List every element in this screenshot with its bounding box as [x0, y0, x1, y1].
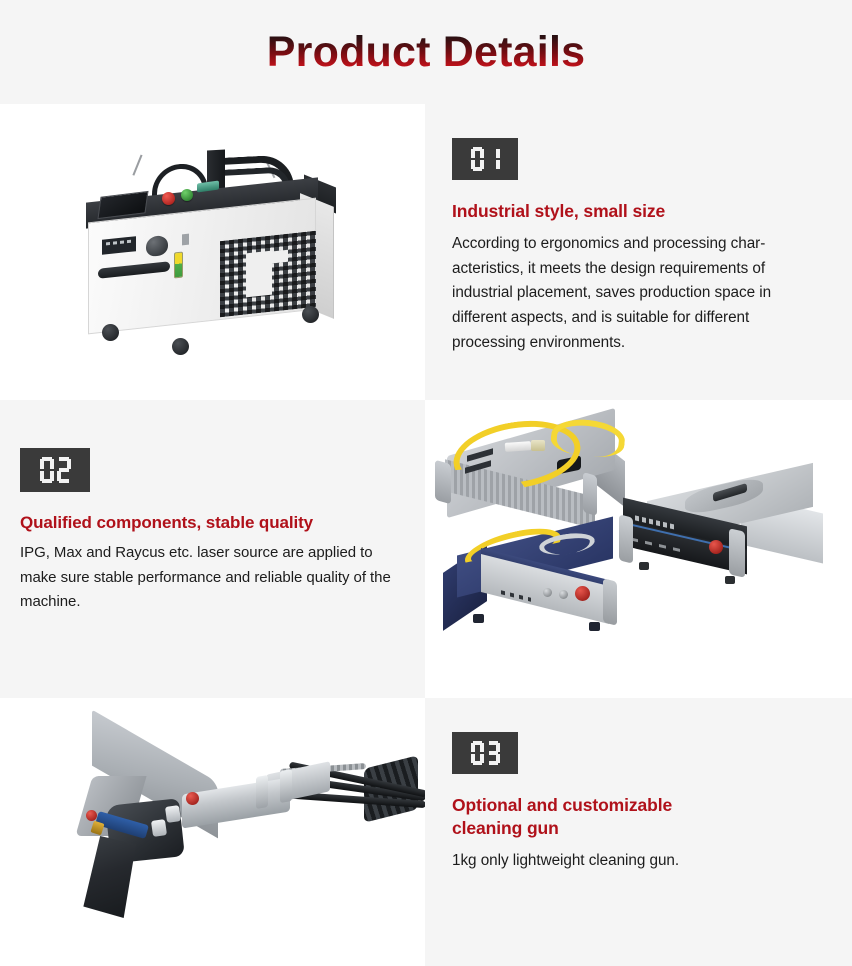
- laser-source-unit-raycus: Raycus: [439, 536, 629, 640]
- gun-trigger-button: [186, 792, 199, 805]
- gauge-led-3: [120, 240, 124, 243]
- lcd-digit-zero: [471, 741, 484, 765]
- feature-image-panel-3: [0, 698, 425, 966]
- gauge-led-2: [113, 241, 117, 244]
- unit3-port-1: [543, 588, 552, 597]
- gun-indicator-button: [86, 810, 97, 821]
- seg-bottom-right: [50, 471, 54, 481]
- seg-bottom-left: [471, 754, 475, 763]
- lcd-digit-one: [487, 147, 500, 171]
- body-line: acteristics, it meets the design require…: [452, 260, 765, 277]
- machine-emergency-stop-button: [162, 192, 175, 205]
- feature-text-block-1: Industrial style, small size According t…: [425, 104, 852, 356]
- lcd-digit-two: [57, 457, 71, 483]
- lcd-digit-zero: [40, 457, 54, 483]
- feature-badge-01: [452, 138, 518, 180]
- feature-text-block-3: Optional and customizable cleaning gun 1…: [425, 698, 852, 873]
- seg-top-left: [471, 743, 475, 752]
- unit3-foot-left: [473, 614, 484, 623]
- lcd-digit-zero: [471, 147, 484, 171]
- unit1-fiber-connector-brass: [531, 440, 545, 451]
- gun-collar-2: [280, 769, 292, 803]
- unit2-red-power-button: [709, 540, 723, 554]
- body-line: processing environments.: [452, 334, 625, 351]
- seg-bottom-right: [480, 754, 484, 763]
- gun-collar-1: [256, 775, 268, 809]
- lcd-digit-three: [487, 741, 500, 765]
- seg-top-right: [67, 459, 71, 469]
- unit2-foot-right: [725, 576, 735, 584]
- heading-line: cleaning gun: [452, 818, 559, 838]
- unit1-fiber-connector-white: [505, 441, 532, 452]
- machine-caster-front-left: [102, 324, 119, 341]
- gauge-led-1: [106, 242, 110, 245]
- feature-text-block-2: Qualified components, stable quality IPG…: [0, 400, 425, 614]
- body-line: According to ergonomics and processing c…: [452, 235, 765, 252]
- seg-top-right: [480, 743, 484, 752]
- feature-image-panel-2: Raycus: [425, 400, 852, 698]
- feature-image-panel-1: [0, 104, 425, 400]
- seg-bottom-right: [480, 160, 484, 169]
- machine-illustration: [64, 148, 364, 353]
- heading-line: Optional and customizable: [452, 795, 672, 815]
- feature-text-panel-3: Optional and customizable cleaning gun 1…: [425, 698, 852, 966]
- seg-top-right: [496, 149, 500, 158]
- unit2-handle-right: [729, 528, 745, 578]
- unit3-foot-right: [589, 622, 600, 631]
- gun-nut-1: [165, 805, 181, 823]
- feature-body-2: IPG, Max and Raycus etc. laser source ar…: [20, 541, 395, 614]
- unit2-foot-left: [639, 562, 649, 570]
- seg-bottom-right: [496, 160, 500, 169]
- laser-cleaning-machine-photo: [0, 104, 425, 400]
- cleaning-gun-illustration: [30, 732, 425, 922]
- gun-nut-2: [151, 819, 167, 837]
- machine-indicator-tower: [174, 252, 183, 279]
- seg-bottom-right: [496, 754, 500, 763]
- laser-source-units-photo: Raycus: [425, 400, 852, 698]
- gauge-led-4: [127, 240, 131, 243]
- machine-green-start-button: [181, 189, 193, 201]
- unit1-handle-right: [583, 472, 597, 516]
- unit3-port-2: [559, 590, 568, 599]
- cleaning-gun-photo: [0, 698, 425, 966]
- machine-latch: [182, 234, 189, 246]
- page-header: Product Details: [0, 0, 852, 104]
- badge-digits-01: [471, 147, 500, 171]
- unit3-red-power-button: [575, 586, 590, 601]
- feature-badge-02: [20, 448, 90, 492]
- body-line: IPG, Max and Raycus etc. laser source ar…: [20, 544, 304, 561]
- feature-body-1: According to ergonomics and processing c…: [452, 232, 826, 356]
- seg-top-right: [480, 149, 484, 158]
- machine-caster-rear: [302, 306, 319, 323]
- seg-bottom-left: [471, 160, 475, 169]
- feature-heading-2: Qualified components, stable quality: [20, 512, 395, 534]
- product-details-page: Product Details: [0, 0, 852, 966]
- feature-heading-3: Optional and customizable cleaning gun: [452, 794, 826, 840]
- seg-top-right: [50, 459, 54, 469]
- feature-badge-03: [452, 732, 518, 774]
- unit1-handle-left: [435, 460, 451, 505]
- badge-digits-02: [40, 457, 71, 483]
- machine-caster-front-right: [172, 338, 189, 355]
- seg-bottom-left: [40, 471, 44, 481]
- seg-top-left: [40, 459, 44, 469]
- body-line: industrial placement, saves production s…: [452, 284, 755, 301]
- badge-digits-03: [471, 741, 500, 765]
- feature-text-panel-1: Industrial style, small size According t…: [425, 104, 852, 400]
- laser-source-unit-black-front: [621, 480, 827, 590]
- feature-text-panel-2: Qualified components, stable quality IPG…: [0, 400, 425, 698]
- seg-top-left: [471, 149, 475, 158]
- feature-body-3: 1kg only lightweight cleaning gun.: [452, 849, 826, 874]
- seg-bottom-left: [57, 471, 61, 481]
- feature-row-1: Industrial style, small size According t…: [0, 104, 852, 400]
- feature-row-3: Optional and customizable cleaning gun 1…: [0, 698, 852, 966]
- feature-heading-1: Industrial style, small size: [452, 200, 826, 223]
- page-title: Product Details: [267, 28, 585, 77]
- gun-nozzle: [80, 836, 136, 918]
- feature-row-2: Raycus: [0, 400, 852, 698]
- seg-top-right: [496, 743, 500, 752]
- unit3-handle-right: [603, 578, 617, 625]
